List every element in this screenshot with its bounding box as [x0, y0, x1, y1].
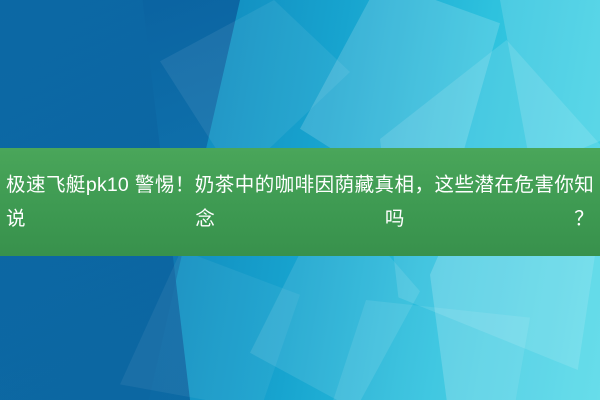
title-band: 极速飞艇pk10 警惕！奶茶中的咖啡因荫藏真相，这些潜在危害你知说念吗？	[0, 148, 600, 256]
banner-title: 极速飞艇pk10 警惕！奶茶中的咖啡因荫藏真相，这些潜在危害你知说念吗？	[0, 168, 600, 236]
banner-image: 极速飞艇pk10 警惕！奶茶中的咖啡因荫藏真相，这些潜在危害你知说念吗？	[0, 0, 600, 400]
